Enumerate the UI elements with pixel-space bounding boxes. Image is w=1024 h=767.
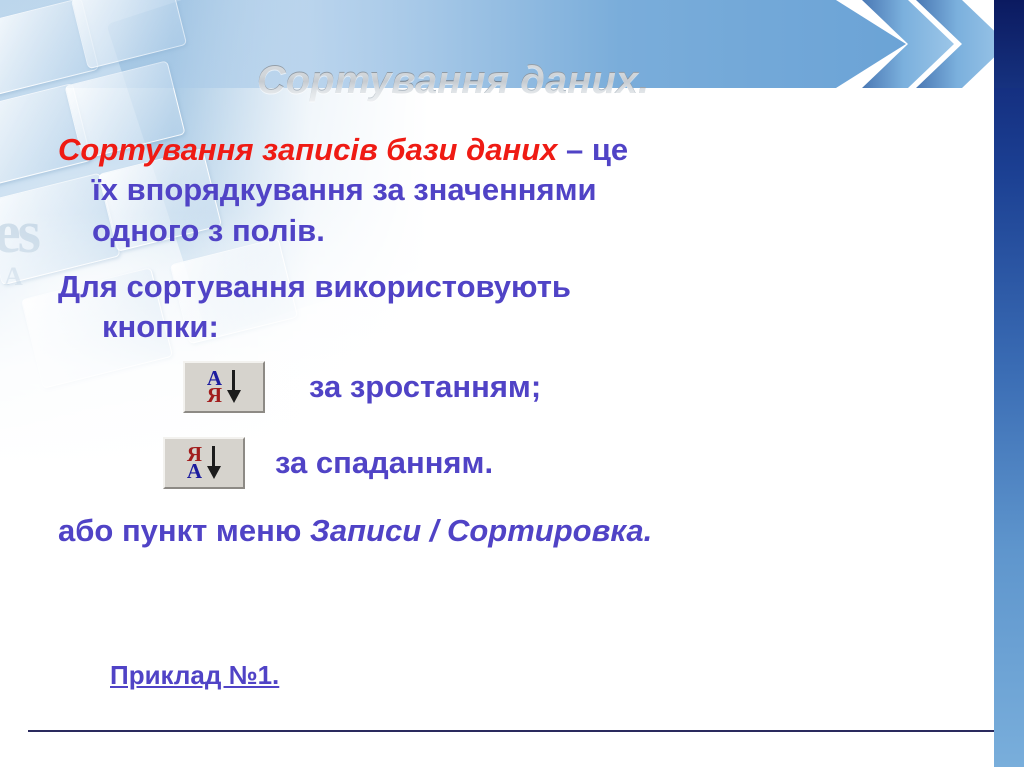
arrow-down-icon xyxy=(227,370,241,404)
photo-ghost-letters-small: A xyxy=(4,262,23,292)
buttons-intro-line-2: кнопки: xyxy=(58,307,958,347)
sort-ascending-icon[interactable]: А Я xyxy=(183,361,265,413)
menu-path: Записи / Сортировка. xyxy=(310,513,652,548)
definition-line-3: одного з полів. xyxy=(58,211,958,251)
right-side-band-top xyxy=(994,0,1024,88)
paragraph-menu-alternative: або пункт меню Записи / Сортировка. xyxy=(58,511,958,551)
sort-descending-letters: Я А xyxy=(187,446,202,481)
arrow-head xyxy=(227,390,241,403)
paragraph-buttons-intro: Для сортування використовують кнопки: xyxy=(58,267,958,348)
sort-ascending-letters: А Я xyxy=(207,370,222,405)
sort-letter-bottom: Я xyxy=(207,387,222,405)
definition-connector: – це xyxy=(557,132,628,167)
slide: es A Сортування даних. Сортування записі… xyxy=(0,0,1024,767)
sort-descending-row: Я А за спаданням. xyxy=(58,437,958,489)
slide-body: Сортування записів бази даних – це їх вп… xyxy=(58,130,958,558)
chevron-icon xyxy=(916,0,1008,88)
arrow-shaft xyxy=(212,446,215,468)
arrow-down-icon xyxy=(207,446,221,480)
paragraph-definition: Сортування записів бази даних – це їх вп… xyxy=(58,130,958,251)
right-side-band xyxy=(994,0,1024,767)
arrow-shaft xyxy=(232,370,235,392)
photo-ghost-letters: es xyxy=(0,198,38,267)
buttons-intro-line-1: Для сортування використовують xyxy=(58,269,571,304)
arrow-head xyxy=(207,466,221,479)
sort-descending-icon[interactable]: Я А xyxy=(163,437,245,489)
page-title: Сортування даних. xyxy=(0,58,906,103)
menu-alternative-prefix: або пункт меню xyxy=(58,513,310,548)
sort-ascending-caption: за зростанням; xyxy=(309,369,541,405)
sort-descending-caption: за спаданням. xyxy=(275,445,493,481)
example-link[interactable]: Приклад №1. xyxy=(110,660,279,691)
definition-term: Сортування записів бази даних xyxy=(58,132,557,167)
definition-line-2: їх впорядкування за значеннями xyxy=(58,170,958,210)
sort-letter-bottom: А xyxy=(187,463,202,481)
footer-divider xyxy=(28,730,994,732)
sort-ascending-row: А Я за зростанням; xyxy=(58,361,958,413)
